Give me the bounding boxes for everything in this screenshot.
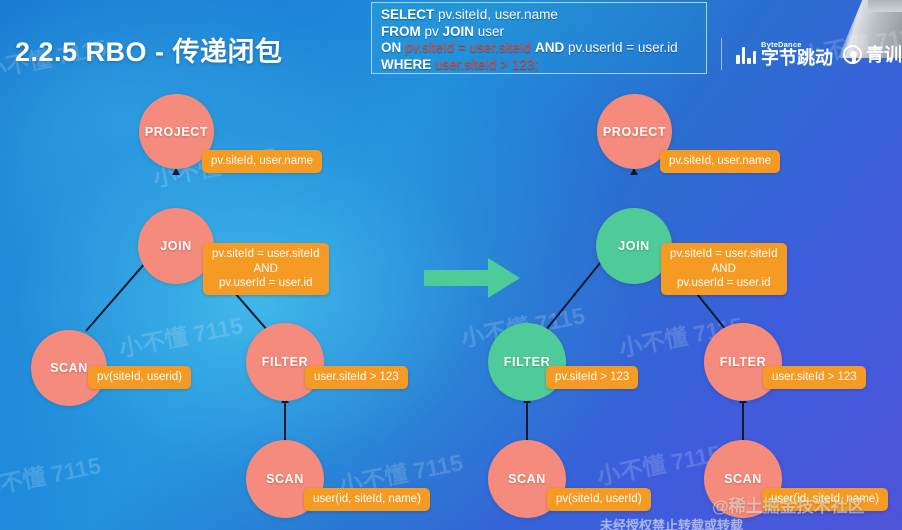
transform-arrow-shaft bbox=[424, 270, 492, 286]
sql-keyword-join: JOIN bbox=[443, 24, 475, 39]
sql-line-4: WHERE user.siteId > 123; bbox=[381, 57, 700, 74]
sql-join-table: user bbox=[474, 24, 504, 39]
sql-keyword-from: FROM bbox=[381, 24, 421, 39]
label-scan-pv-right: pv(siteId, userId) bbox=[547, 488, 651, 511]
label-scan-user-right: user(id, siteId, name) bbox=[762, 488, 888, 511]
label-join-right: pv.siteId = user.siteId AND pv.userId = … bbox=[661, 243, 787, 295]
brand-divider bbox=[721, 38, 722, 70]
sql-keyword-select: SELECT bbox=[381, 7, 434, 22]
label-scan-pv-left: pv(siteId, userid) bbox=[88, 366, 191, 389]
qingxun-circle-icon bbox=[843, 45, 862, 64]
watermark-tile: 小不懂 7115 bbox=[0, 446, 103, 503]
label-join-left: pv.siteId = user.siteId AND pv.userId = … bbox=[203, 243, 329, 295]
sql-line-2: FROM pv JOIN user bbox=[381, 24, 700, 41]
sql-where-highlight: user.siteId > 123 bbox=[431, 57, 534, 72]
label-filter-user-left: user.siteId > 123 bbox=[305, 366, 408, 389]
arrowhead-join-project-right bbox=[630, 168, 638, 175]
transform-arrow-icon bbox=[424, 258, 520, 298]
bytedance-text: ByteDance 字节跳动 bbox=[761, 41, 833, 67]
node-filter-user-right[interactable]: FILTER bbox=[704, 323, 782, 401]
brand-bar: ByteDance 字节跳动 青训 bbox=[721, 36, 902, 72]
page-title: 2.2.5 RBO - 传递闭包 bbox=[15, 30, 283, 69]
arrowhead-join-project-left bbox=[172, 168, 180, 175]
sql-select-list: pv.siteId, user.name bbox=[434, 7, 558, 22]
label-scan-user-left: user(id, siteId, name) bbox=[304, 488, 430, 511]
slide-canvas: 小不懂 7115 小不懂 7115 小不懂 7115 小不懂 7115 小不懂 … bbox=[0, 0, 902, 530]
bytedance-logo: ByteDance 字节跳动 bbox=[736, 41, 833, 67]
sql-on-rest: pv.userId = user.id bbox=[564, 40, 677, 55]
node-filter-user-left[interactable]: FILTER bbox=[246, 323, 324, 401]
watermark-tile: 小不懂 7115 bbox=[116, 306, 245, 363]
sql-from-table: pv bbox=[421, 24, 443, 39]
label-filter-user-right: user.siteId > 123 bbox=[763, 366, 866, 389]
label-project-right: pv.siteId, user.name bbox=[660, 150, 780, 173]
sql-line-3: ON pv.siteId = user.siteId AND pv.userId… bbox=[381, 40, 700, 57]
bytedance-name-cn: 字节跳动 bbox=[761, 49, 833, 67]
qingxun-name-cn: 青训 bbox=[866, 41, 902, 67]
label-filter-pv-right: pv.siteId > 123 bbox=[546, 366, 638, 389]
sql-query-box: SELECT pv.siteId, user.name FROM pv JOIN… bbox=[371, 2, 707, 74]
sql-keyword-on: ON bbox=[381, 40, 401, 55]
transform-arrow-head bbox=[488, 258, 520, 298]
qingxun-logo: 青训 bbox=[843, 41, 902, 67]
sql-keyword-and: AND bbox=[535, 40, 564, 55]
sql-line-1: SELECT pv.siteId, user.name bbox=[381, 7, 700, 24]
video-overlay-corner bbox=[868, 0, 902, 12]
watermark-footer: 未经授权禁止转载或转载 bbox=[600, 515, 743, 530]
sql-keyword-where: WHERE bbox=[381, 57, 431, 72]
sql-on-highlight: pv.siteId = user.siteId bbox=[401, 40, 535, 55]
label-project-left: pv.siteId, user.name bbox=[202, 150, 322, 173]
bytedance-bars-icon bbox=[736, 44, 756, 64]
sql-semicolon: ; bbox=[534, 57, 538, 72]
node-filter-pv-right[interactable]: FILTER bbox=[488, 323, 566, 401]
